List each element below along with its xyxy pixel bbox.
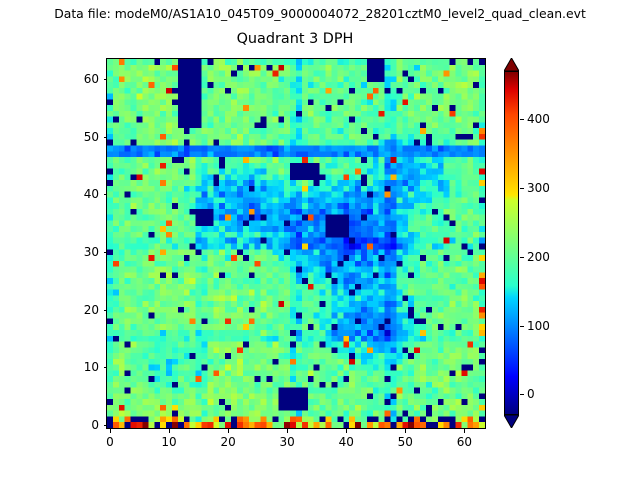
y-tick-label: 10 bbox=[84, 360, 99, 374]
x-tick-mark bbox=[169, 429, 170, 433]
heatmap-image bbox=[107, 59, 485, 428]
axes-title: Quadrant 3 DPH bbox=[106, 31, 484, 47]
y-tick-mark bbox=[104, 252, 108, 253]
colorbar-tick-mark bbox=[520, 326, 524, 327]
y-tick-mark bbox=[104, 367, 108, 368]
x-tick-label: 10 bbox=[161, 435, 176, 449]
y-tick-mark bbox=[104, 194, 108, 195]
x-tick-mark bbox=[110, 429, 111, 433]
colorbar-tick-label: 0 bbox=[527, 387, 535, 401]
x-tick-mark bbox=[287, 429, 288, 433]
y-tick-mark bbox=[104, 137, 108, 138]
y-tick-label: 30 bbox=[84, 245, 99, 259]
colorbar-extend-min-arrow-icon bbox=[504, 415, 519, 428]
x-tick-mark bbox=[464, 429, 465, 433]
x-tick-label: 40 bbox=[339, 435, 354, 449]
colorbar-tick-label: 100 bbox=[527, 319, 550, 333]
colorbar-tick-label: 300 bbox=[527, 181, 550, 195]
colorbar-gradient-track bbox=[504, 71, 519, 415]
colorbar-tick-mark bbox=[520, 394, 524, 395]
colorbar-tick-mark bbox=[520, 188, 524, 189]
figure-suptitle: Data file: modeM0/AS1A10_045T09_90000040… bbox=[0, 6, 640, 21]
y-tick-mark bbox=[104, 310, 108, 311]
colorbar-tick-label: 400 bbox=[527, 112, 550, 126]
colorbar-gradient bbox=[505, 72, 518, 414]
colorbar: 0100200300400 bbox=[504, 58, 584, 428]
y-tick-mark bbox=[104, 79, 108, 80]
heatmap-axes: 0102030405060 0102030405060 bbox=[106, 58, 486, 429]
x-tick-mark bbox=[405, 429, 406, 433]
colorbar-extend-max-arrow-icon bbox=[504, 58, 519, 71]
x-tick-label: 30 bbox=[280, 435, 295, 449]
x-tick-label: 50 bbox=[398, 435, 413, 449]
y-tick-label: 20 bbox=[84, 303, 99, 317]
y-tick-label: 50 bbox=[84, 130, 99, 144]
y-tick-label: 40 bbox=[84, 187, 99, 201]
colorbar-tick-mark bbox=[520, 119, 524, 120]
x-tick-label: 20 bbox=[220, 435, 235, 449]
x-tick-mark bbox=[346, 429, 347, 433]
y-tick-mark bbox=[104, 425, 108, 426]
y-tick-label: 0 bbox=[91, 418, 99, 432]
y-tick-label: 60 bbox=[84, 72, 99, 86]
x-tick-mark bbox=[228, 429, 229, 433]
matplotlib-figure: Data file: modeM0/AS1A10_045T09_90000040… bbox=[0, 0, 640, 480]
colorbar-tick-mark bbox=[520, 257, 524, 258]
x-tick-label: 0 bbox=[106, 435, 114, 449]
colorbar-tick-label: 200 bbox=[527, 250, 550, 264]
x-tick-label: 60 bbox=[457, 435, 472, 449]
